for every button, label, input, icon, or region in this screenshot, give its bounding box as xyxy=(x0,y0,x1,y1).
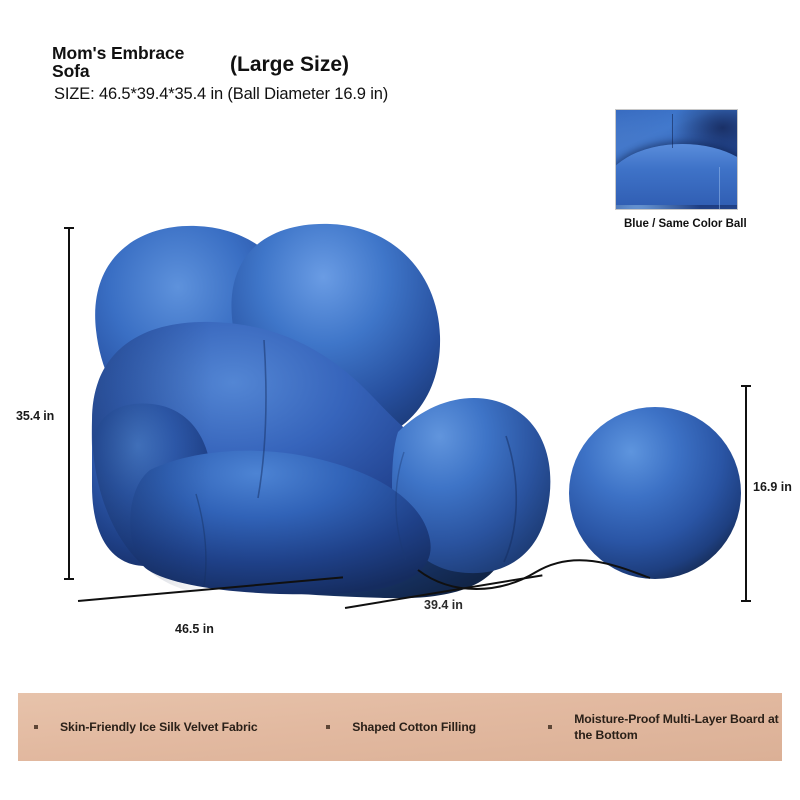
sofa-left-shadow xyxy=(92,322,212,594)
width-dimension-label: 46.5 in xyxy=(175,622,214,636)
ball-diameter-label: 16.9 in xyxy=(753,480,792,494)
feature-label: Moisture-Proof Multi-Layer Board at the … xyxy=(574,711,782,743)
fabric-seam-icon xyxy=(672,114,674,148)
feature-item: Shaped Cotton Filling xyxy=(326,719,548,735)
ball-diameter-line xyxy=(745,385,747,602)
fabric-seam-secondary-icon xyxy=(719,167,721,209)
bullet-icon xyxy=(548,725,552,729)
bullet-icon xyxy=(326,725,330,729)
feature-label: Shaped Cotton Filling xyxy=(352,719,476,735)
depth-dimension-label: 39.4 in xyxy=(424,598,463,612)
bullet-icon xyxy=(34,725,38,729)
feature-item: Moisture-Proof Multi-Layer Board at the … xyxy=(548,711,782,743)
product-illustration: 35.4 in 16.9 in 46.5 in 39.4 in xyxy=(0,0,800,680)
sofa-and-ball-svg xyxy=(0,0,800,680)
product-spec-sheet: Mom's Embrace Sofa (Large Size) SIZE: 46… xyxy=(0,0,800,800)
feature-bar: Skin-Friendly Ice Silk Velvet Fabric Sha… xyxy=(18,693,782,761)
ball-ottoman xyxy=(569,407,741,579)
feature-label: Skin-Friendly Ice Silk Velvet Fabric xyxy=(60,719,258,735)
feature-item: Skin-Friendly Ice Silk Velvet Fabric xyxy=(34,719,326,735)
height-dimension-line xyxy=(68,227,70,580)
height-dimension-label: 35.4 in xyxy=(16,409,54,423)
